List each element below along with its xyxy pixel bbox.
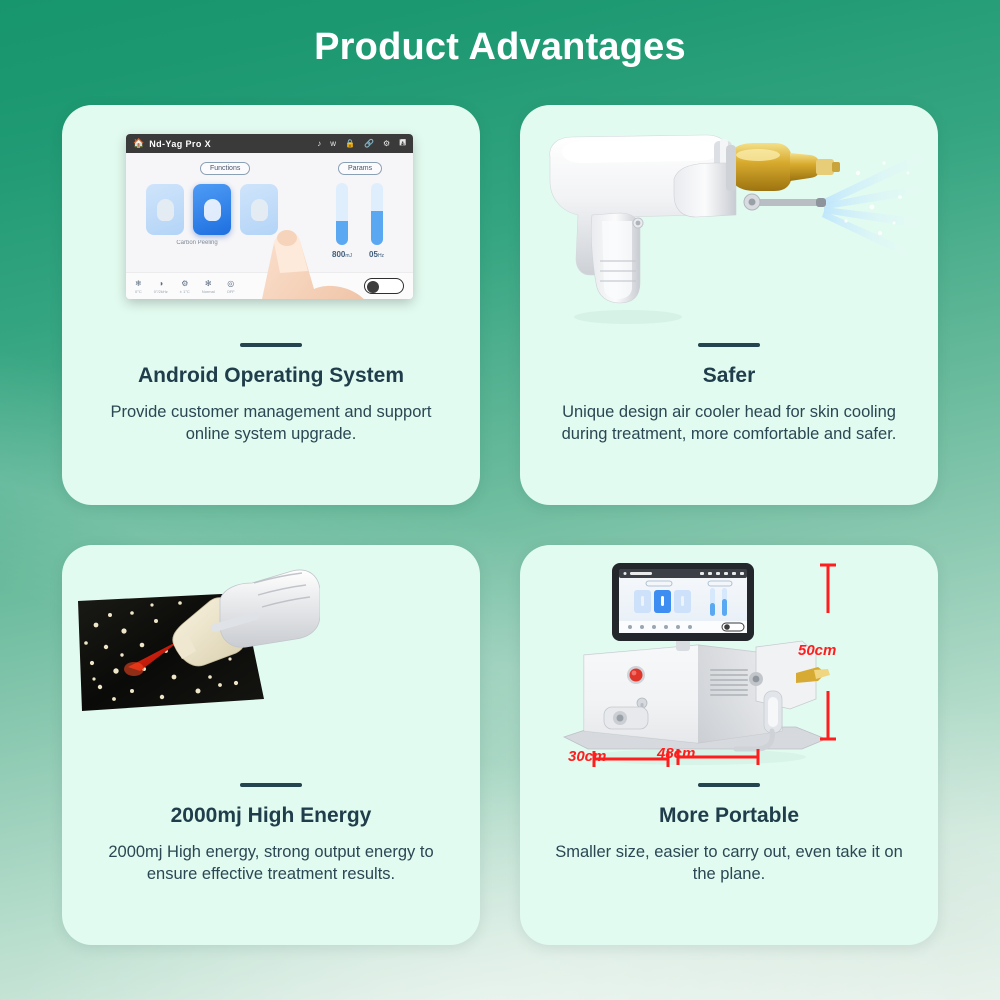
advantages-grid: 🏠 Nd-Yag Pro X ♪ w 🔒 🔗 ⚙ 🖪 Functions Par… bbox=[62, 105, 938, 957]
card-art-handpiece bbox=[520, 105, 938, 337]
title-divider bbox=[240, 783, 302, 787]
dimension-height-label: 50cm bbox=[798, 642, 836, 659]
footer-icon-temperature[interactable]: ⚙± 1°C bbox=[180, 279, 190, 294]
air-cooler-nozzle bbox=[744, 194, 826, 210]
function-tiles bbox=[146, 184, 278, 235]
machine-touchscreen bbox=[612, 563, 754, 641]
dimension-width-label: 48cm bbox=[657, 745, 695, 762]
music-icon[interactable]: ♪ bbox=[317, 139, 321, 148]
info-icon[interactable]: w bbox=[330, 139, 336, 148]
gold-laser-tip bbox=[726, 143, 840, 191]
title-divider bbox=[698, 783, 760, 787]
card-description: Provide customer management and support … bbox=[92, 401, 450, 446]
portable-machine-illustration bbox=[550, 551, 840, 777]
screen-status-icons: ♪ w 🔒 🔗 ⚙ 🖪 bbox=[317, 137, 406, 151]
screen-body: Functions Params Carbon Peeling 800mJ bbox=[126, 153, 413, 299]
params-label[interactable]: Params bbox=[338, 162, 382, 175]
frequency-slider-group: 05Hz bbox=[369, 183, 384, 259]
dimension-depth-label: 30cm bbox=[568, 748, 606, 765]
card-title: More Portable bbox=[659, 804, 799, 828]
emergency-stop-button bbox=[627, 666, 645, 684]
param-sliders: 800mJ 05Hz bbox=[332, 183, 384, 259]
footer-icon-cooling[interactable]: ❄0°C bbox=[135, 279, 142, 294]
card-description: Unique design air cooler head for skin c… bbox=[550, 401, 908, 446]
energy-slider-group: 800mJ bbox=[332, 183, 352, 259]
title-divider bbox=[698, 343, 760, 347]
face-icon bbox=[157, 199, 174, 221]
shield-face-icon bbox=[204, 199, 221, 221]
home-icon[interactable]: 🏠 bbox=[133, 138, 144, 149]
function-tile-face-mode[interactable] bbox=[146, 184, 184, 235]
footer-icon-mode[interactable]: ◑0°/2kHz bbox=[154, 279, 168, 294]
laser-handpiece-illustration bbox=[528, 111, 930, 331]
function-tile-carbon-peeling-mode[interactable] bbox=[193, 184, 231, 235]
card-title: Safer bbox=[703, 364, 756, 388]
card-art-tablet: 🏠 Nd-Yag Pro X ♪ w 🔒 🔗 ⚙ 🖪 Functions Par… bbox=[62, 105, 480, 337]
laser-firing-photo bbox=[70, 559, 320, 744]
advantage-card-more-portable: 50cm 30cm 48cm More Portable Smaller siz… bbox=[520, 545, 938, 945]
save-icon[interactable]: 🖪 bbox=[399, 137, 406, 151]
link-icon[interactable]: 🔗 bbox=[364, 139, 374, 148]
function-tile-tattoo-mode[interactable] bbox=[240, 184, 278, 235]
advantage-card-safer: Safer Unique design air cooler head for … bbox=[520, 105, 938, 505]
selected-function-label: Carbon Peeling bbox=[149, 240, 245, 246]
tablet-device-screen: 🏠 Nd-Yag Pro X ♪ w 🔒 🔗 ⚙ 🖪 Functions Par… bbox=[126, 134, 413, 299]
advantage-card-high-energy: 2000mj High Energy 2000mj High energy, s… bbox=[62, 545, 480, 945]
energy-slider[interactable] bbox=[336, 183, 348, 245]
lock-icon[interactable]: 🔒 bbox=[345, 139, 355, 148]
face-icon bbox=[251, 199, 268, 221]
card-art-machine: 50cm 30cm 48cm bbox=[520, 545, 938, 777]
card-art-laser-firing bbox=[62, 545, 480, 777]
gear-icon[interactable]: ⚙ bbox=[383, 139, 390, 148]
card-title: 2000mj High Energy bbox=[171, 804, 372, 828]
card-title: Android Operating System bbox=[138, 364, 404, 388]
screen-footer-toolbar: ❄0°C ◑0°/2kHz ⚙± 1°C ✻Normal ◎OFF bbox=[126, 272, 413, 299]
advantage-card-android-operating-system: 🏠 Nd-Yag Pro X ♪ w 🔒 🔗 ⚙ 🖪 Functions Par… bbox=[62, 105, 480, 505]
footer-icon-normal[interactable]: ✻Normal bbox=[202, 279, 215, 294]
screen-app-title: Nd-Yag Pro X bbox=[149, 139, 211, 149]
energy-value: 800mJ bbox=[332, 250, 352, 259]
functions-label[interactable]: Functions bbox=[200, 162, 250, 175]
power-toggle[interactable] bbox=[364, 278, 404, 294]
frequency-value: 05Hz bbox=[369, 250, 384, 259]
screen-title-bar: 🏠 Nd-Yag Pro X ♪ w 🔒 🔗 ⚙ 🖪 bbox=[126, 134, 413, 153]
frequency-slider[interactable] bbox=[371, 183, 383, 245]
page-title: Product Advantages bbox=[0, 26, 1000, 69]
card-description: Smaller size, easier to carry out, even … bbox=[550, 841, 908, 886]
footer-icon-off[interactable]: ◎OFF bbox=[227, 279, 235, 294]
card-description: 2000mj High energy, strong output energy… bbox=[92, 841, 450, 886]
title-divider bbox=[240, 343, 302, 347]
